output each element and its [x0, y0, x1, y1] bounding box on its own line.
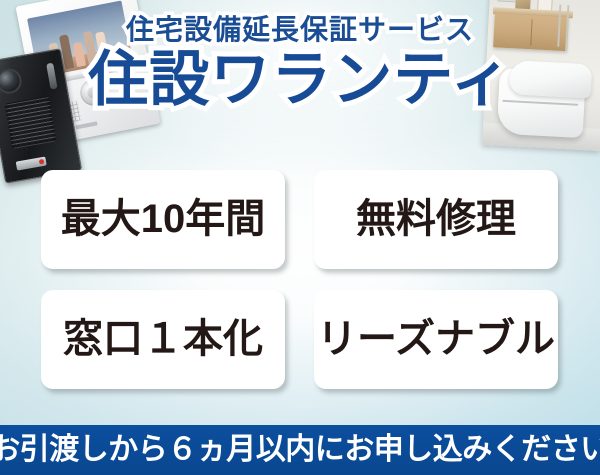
- feature-box-single-contact: 窓口１本化: [41, 290, 285, 389]
- feature-box-max-years: 最大10年間: [41, 170, 285, 269]
- feature-grid: 最大10年間 無料修理 窓口１本化 リーズナブル: [41, 170, 558, 388]
- feature-label: 窓口１本化: [63, 319, 263, 359]
- feature-label: 無料修理: [356, 199, 516, 239]
- feature-label: リーズナブル: [317, 319, 555, 359]
- feature-box-reasonable: リーズナブル: [314, 290, 558, 389]
- application-deadline-text: お引渡しから６ヵ月以内にお申し込みください: [0, 435, 600, 465]
- feature-label: 最大10年間: [61, 199, 266, 239]
- headline-group: 住宅設備延長保証サービス 住設ワランティ: [0, 14, 600, 113]
- page-title: 住設ワランティ: [0, 48, 600, 113]
- camera-call-button: [16, 156, 47, 170]
- monitor-logo: [75, 121, 97, 129]
- feature-box-free-repair: 無料修理: [314, 170, 558, 269]
- promo-banner: 住宅設備延長保証サービス 住設ワランティ 最大10年間 無料修理 窓口１本化 リ…: [0, 0, 600, 475]
- service-subtitle: 住宅設備延長保証サービス: [0, 14, 600, 46]
- application-deadline-bar: お引渡しから６ヵ月以内にお申し込みください: [0, 425, 600, 475]
